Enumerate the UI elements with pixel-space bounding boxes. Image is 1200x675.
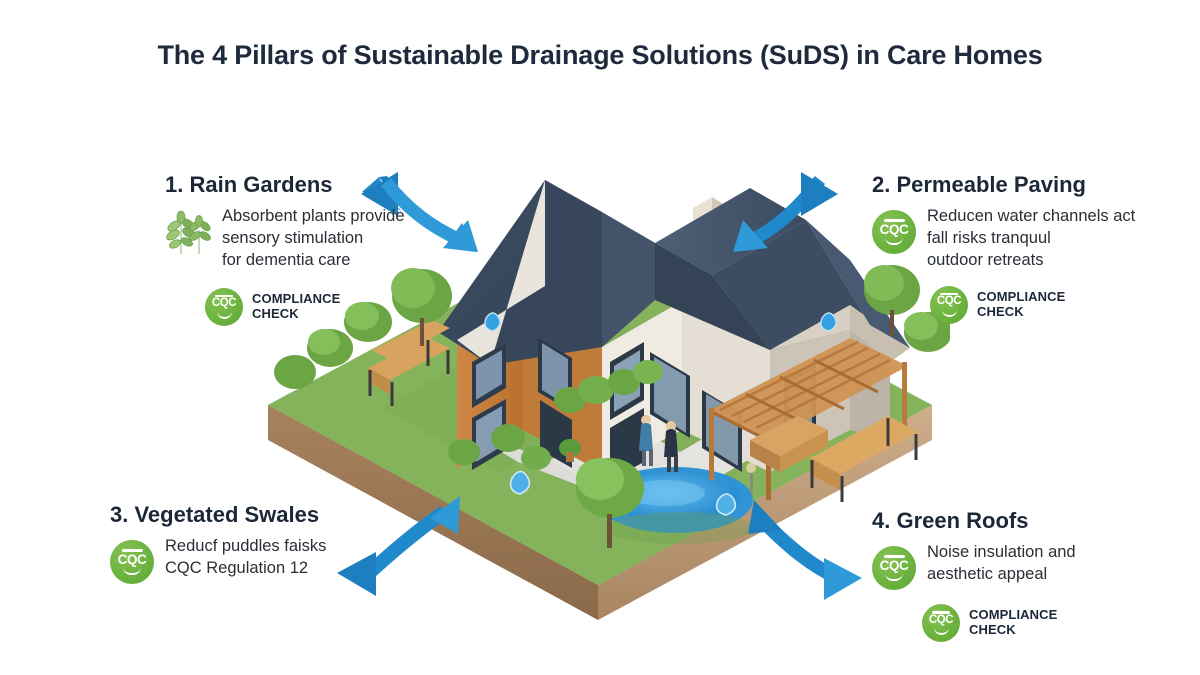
pillar-body: Noise insulation and aesthetic appeal [927, 542, 1076, 586]
cqc-label: CQC [880, 559, 909, 573]
cqc-badge: CQC [930, 286, 968, 324]
compliance-label: COMPLIANCE CHECK [969, 608, 1057, 637]
pillar-body: Absorbent plants provide sensory stimula… [222, 206, 405, 272]
pillar-heading: 2. Permeable Paving [872, 172, 1142, 198]
cqc-label: CQC [937, 296, 961, 308]
pillar-green-roofs[interactable]: 4. Green Roofs CQC Noise insulation and … [872, 508, 1122, 642]
cqc-smile [217, 311, 232, 319]
plant-sprig-icon [165, 208, 211, 256]
cqc-smile [123, 567, 141, 575]
cqc-smile [934, 627, 949, 635]
cqc-smile [942, 309, 957, 317]
pillar-permeable-paving[interactable]: 2. Permeable Paving CQC Reducen water ch… [872, 172, 1142, 324]
pillar-body: Reducf puddles faisks CQC Regulation 12 [165, 536, 326, 580]
cqc-badge: CQC [205, 288, 243, 326]
compliance-label: COMPLIANCE CHECK [977, 290, 1065, 319]
pillar-rain-gardens[interactable]: 1. Rain Gardens [165, 172, 410, 326]
cqc-label: CQC [929, 615, 953, 627]
page-title: The 4 Pillars of Sustainable Drainage So… [0, 40, 1200, 71]
cqc-badge: CQC [110, 540, 154, 584]
cqc-smile [885, 237, 903, 245]
pillar-heading: 1. Rain Gardens [165, 172, 410, 198]
compliance-check[interactable]: CQC COMPLIANCE CHECK [922, 604, 1122, 642]
cqc-smile [885, 573, 903, 581]
pillar-body: Reducen water channels act fall risks tr… [927, 206, 1135, 272]
compliance-check[interactable]: CQC COMPLIANCE CHECK [930, 286, 1142, 324]
compliance-label: COMPLIANCE CHECK [252, 292, 340, 321]
pillar-vegetated-swales[interactable]: 3. Vegetated Swales CQC Reducf puddles f… [110, 502, 360, 584]
infographic-canvas: The 4 Pillars of Sustainable Drainage So… [0, 0, 1200, 675]
cqc-label: CQC [118, 553, 147, 567]
pillar-heading: 4. Green Roofs [872, 508, 1122, 534]
cqc-label: CQC [212, 298, 236, 310]
cqc-badge: CQC [872, 546, 916, 590]
cqc-badge: CQC [922, 604, 960, 642]
cqc-label: CQC [880, 223, 909, 237]
cqc-badge: CQC [872, 210, 916, 254]
pillar-heading: 3. Vegetated Swales [110, 502, 360, 528]
compliance-check[interactable]: CQC COMPLIANCE CHECK [205, 288, 410, 326]
